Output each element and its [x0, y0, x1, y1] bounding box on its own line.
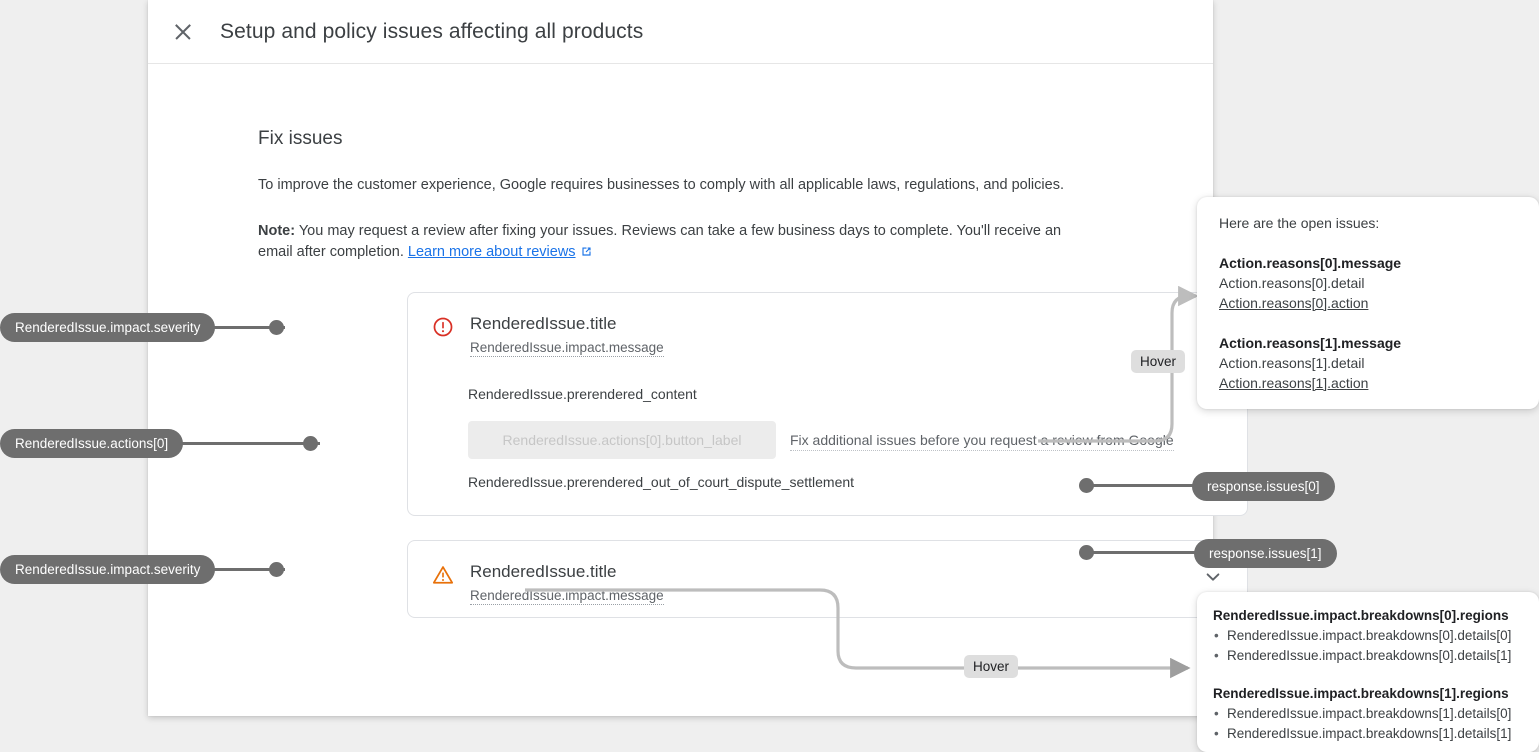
page-title: Setup and policy issues affecting all pr… [220, 20, 643, 44]
leader-dot [1079, 545, 1094, 560]
issue-title: RenderedIssue.title [470, 561, 1223, 583]
reason-action[interactable]: Action.reasons[1].action [1219, 373, 1517, 393]
reason-message: Action.reasons[0].message [1219, 253, 1517, 273]
action-hint[interactable]: Fix additional issues before you request… [790, 432, 1174, 451]
reasons-popover: Here are the open issues: Action.reasons… [1197, 197, 1539, 409]
leader-dot [269, 320, 284, 335]
issue-card-header[interactable]: RenderedIssue.title RenderedIssue.impact… [408, 293, 1247, 357]
annotation-pill-response-issues-0: response.issues[0] [1192, 472, 1335, 501]
dialog-header: Setup and policy issues affecting all pr… [148, 0, 1213, 64]
action-button[interactable]: RenderedIssue.actions[0].button_label [468, 421, 776, 459]
prerendered-content: RenderedIssue.prerendered_content [468, 386, 697, 402]
reason-action[interactable]: Action.reasons[0].action [1219, 293, 1517, 313]
leader-dot [303, 436, 318, 451]
note-text: You may request a review after fixing yo… [258, 223, 1061, 260]
breakdown-title: RenderedIssue.impact.breakdowns[1].regio… [1213, 684, 1523, 704]
annotation-pill-impact-severity-0: RenderedIssue.impact.severity [0, 313, 215, 342]
leader-dot [269, 562, 284, 577]
breakdown-item: RenderedIssue.impact.breakdowns[1].detai… [1213, 704, 1523, 724]
warning-triangle-icon [432, 564, 454, 586]
leader-line [1086, 551, 1206, 554]
leader-dot [1079, 478, 1094, 493]
reason-group: Action.reasons[0].message Action.reasons… [1219, 253, 1517, 313]
issue-impact-message[interactable]: RenderedIssue.impact.message [470, 588, 664, 605]
note-paragraph: Note: You may request a review after fix… [258, 221, 1096, 265]
learn-more-link[interactable]: Learn more about reviews [408, 244, 576, 260]
close-icon[interactable] [172, 21, 194, 43]
breakdown-title: RenderedIssue.impact.breakdowns[0].regio… [1213, 606, 1523, 626]
breakdown-group: RenderedIssue.impact.breakdowns[1].regio… [1213, 684, 1523, 744]
annotation-pill-impact-severity-1: RenderedIssue.impact.severity [0, 555, 215, 584]
dialog-content: Fix issues To improve the customer exper… [258, 128, 1108, 265]
breakdown-item: RenderedIssue.impact.breakdowns[1].detai… [1213, 724, 1523, 744]
reason-group: Action.reasons[1].message Action.reasons… [1219, 333, 1517, 393]
popover-lead: Here are the open issues: [1219, 215, 1517, 231]
annotation-pill-response-issues-1: response.issues[1] [1194, 539, 1337, 568]
breakdown-item: RenderedIssue.impact.breakdowns[0].detai… [1213, 646, 1523, 666]
hover-badge: Hover [1131, 350, 1185, 373]
breakdown-group: RenderedIssue.impact.breakdowns[0].regio… [1213, 606, 1523, 666]
section-title: Fix issues [258, 128, 1108, 150]
issue-impact-message[interactable]: RenderedIssue.impact.message [470, 340, 664, 357]
breakdown-item: RenderedIssue.impact.breakdowns[0].detai… [1213, 626, 1523, 646]
error-circle-icon [432, 316, 454, 338]
reason-detail: Action.reasons[0].detail [1219, 273, 1517, 293]
chevron-down-icon[interactable] [1201, 565, 1225, 589]
reason-message: Action.reasons[1].message [1219, 333, 1517, 353]
regions-popover: RenderedIssue.impact.breakdowns[0].regio… [1197, 592, 1539, 752]
out-of-court-dispute-settlement: RenderedIssue.prerendered_out_of_court_d… [468, 474, 854, 490]
external-link-icon [580, 244, 593, 265]
annotation-pill-actions-0: RenderedIssue.actions[0] [0, 429, 183, 458]
issue-title: RenderedIssue.title [470, 313, 1223, 335]
hover-badge: Hover [964, 655, 1018, 678]
leader-line [1086, 484, 1206, 487]
reason-detail: Action.reasons[1].detail [1219, 353, 1517, 373]
note-label: Note: [258, 223, 295, 239]
intro-paragraph: To improve the customer experience, Goog… [258, 175, 1108, 195]
page-root: Setup and policy issues affecting all pr… [0, 0, 1539, 752]
issues-dialog: Setup and policy issues affecting all pr… [148, 0, 1213, 716]
